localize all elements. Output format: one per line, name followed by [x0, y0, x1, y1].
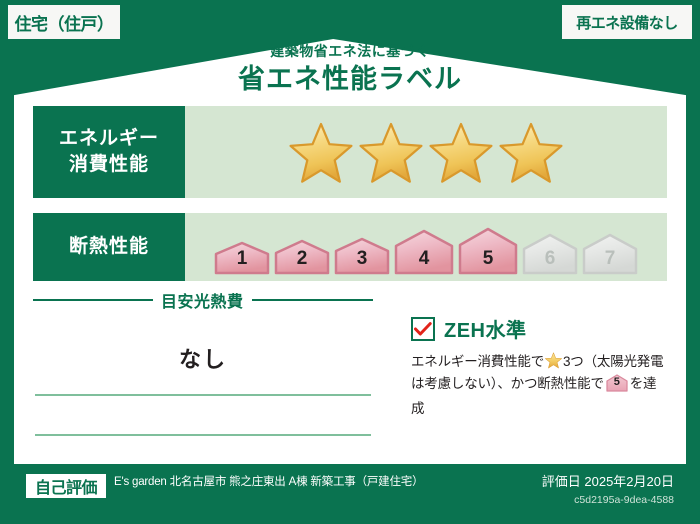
heading-subtitle: 建築物省エネ法に基づく [0, 44, 700, 58]
energy-label-line1: エネルギー [59, 128, 159, 149]
insulation-level-number: 4 [419, 249, 430, 275]
renewable-energy-tag: 再エネ設備なし [562, 5, 692, 39]
insulation-level-number: 1 [237, 249, 248, 275]
cost-divider-1 [35, 394, 371, 396]
checkmark-icon [414, 322, 432, 336]
insulation-level-badge: 7 [582, 233, 638, 275]
energy-performance-label: エネルギー 消費性能 [33, 106, 185, 198]
zeh-checkbox[interactable] [411, 317, 435, 341]
utility-cost-title: 目安光熱費 [161, 288, 244, 312]
utility-cost-value: なし [33, 342, 373, 374]
label-heading: 建築物省エネ法に基づく 省エネ性能ラベル [0, 44, 700, 93]
zeh-description: エネルギー消費性能で3つ（太陽光発電は考慮しない）、かつ断熱性能で5を達成 [411, 351, 667, 420]
star-icon [429, 122, 493, 183]
insulation-level-number: 2 [297, 249, 308, 275]
insulation-level-badge: 5 [458, 227, 518, 275]
insulation-performance-value: 1234567 [185, 213, 667, 281]
zeh-header: ZEH水準 [411, 314, 667, 343]
insulation-level-badge: 2 [274, 239, 330, 275]
energy-label-line2: 消費性能 [69, 154, 149, 175]
insulation-level-badge: 3 [334, 237, 390, 275]
star-icon [499, 122, 563, 183]
star-rating [289, 122, 563, 183]
label-footer: 自己評価 E's garden 北名古屋市 熊之庄東出 A棟 新築工事（戸建住宅… [14, 466, 686, 518]
insulation-level-badge: 6 [522, 233, 578, 275]
energy-performance-value [185, 106, 667, 198]
zeh-section: ZEH水準 エネルギー消費性能で3つ（太陽光発電は考慮しない）、かつ断熱性能で5… [373, 290, 667, 445]
inline-house-badge: 5 [606, 374, 628, 399]
insulation-level-number: 7 [605, 249, 616, 275]
insulation-level-scale: 1234567 [214, 219, 638, 275]
rule-right [252, 299, 373, 301]
zeh-desc-stars: 3つ（太陽光発電 [563, 354, 663, 369]
star-icon [289, 122, 353, 183]
insulation-level-number: 5 [483, 249, 494, 275]
insulation-performance-label: 断熱性能 [33, 213, 185, 281]
evaluation-date: 評価日 2025年2月20日 [486, 474, 674, 491]
cost-divider-2 [35, 434, 371, 436]
insulation-level-badge: 1 [214, 241, 270, 275]
star-icon [359, 122, 423, 183]
evaluation-id: c5d2195a-9dea-4588 [486, 494, 674, 506]
property-name: E's garden 北名古屋市 熊之庄東出 A棟 新築工事（戸建住宅） [106, 474, 486, 491]
inline-star-icon [545, 352, 562, 369]
lower-section: 目安光熱費 なし ZEH水準 エネルギー消費性能で3つ（太陽光発電は考慮しない）… [33, 290, 667, 445]
insulation-level-number: 3 [357, 249, 368, 275]
insulation-level-number: 6 [545, 249, 556, 275]
zeh-desc-part2: は考慮しない）、かつ断熱性能で [411, 376, 604, 391]
zeh-desc-part1: エネルギー消費性能で [411, 354, 544, 369]
insulation-performance-row: 断熱性能 1234567 [33, 213, 667, 281]
zeh-title: ZEH水準 [444, 314, 527, 343]
insulation-level-badge: 4 [394, 229, 454, 275]
utility-cost-header: 目安光熱費 [33, 290, 373, 310]
energy-performance-label: 住宅（住戸） 再エネ設備なし 建築物省エネ法に基づく 省エネ性能ラベル エネルギ… [0, 0, 700, 524]
energy-performance-row: エネルギー 消費性能 [33, 106, 667, 198]
utility-cost-section: 目安光熱費 なし [33, 290, 373, 445]
housing-type-tag: 住宅（住戸） [8, 5, 120, 39]
inline-house-number: 5 [606, 377, 628, 388]
heading-title: 省エネ性能ラベル [0, 66, 700, 93]
rule-left [33, 299, 153, 301]
evaluation-info: 評価日 2025年2月20日 c5d2195a-9dea-4588 [486, 474, 686, 506]
self-evaluation-badge: 自己評価 [26, 474, 106, 498]
